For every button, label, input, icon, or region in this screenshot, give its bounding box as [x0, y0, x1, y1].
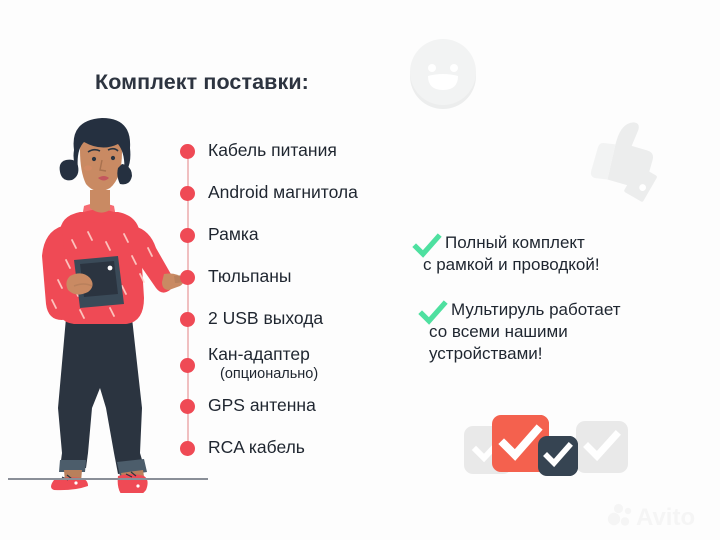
bullet-dot-icon: [180, 228, 195, 243]
bullet-dot-icon: [180, 144, 195, 159]
feature-item-full-kit: Полный комплект с рамкой и проводкой!: [412, 233, 692, 285]
feature-line: со всеми нашими: [429, 321, 568, 343]
bullet-dot-icon: [180, 441, 195, 456]
feature-text: Мультируль работает со всеми нашими устр…: [451, 299, 621, 364]
feature-line: Полный комплект: [445, 233, 585, 252]
feature-text: Полный комплект с рамкой и проводкой!: [445, 232, 600, 276]
list-item-label: 2 USB выхода: [208, 308, 323, 329]
list-item-label: Кан-адаптер: [208, 344, 310, 365]
floor-line: [8, 478, 208, 480]
feature-item-multisteer: Мультируль работает со всеми нашими устр…: [418, 300, 698, 376]
list-item-label: Кабель питания: [208, 140, 337, 161]
list-item-label: GPS антенна: [208, 395, 316, 416]
thumbs-up-icon: [582, 113, 664, 203]
list-item-label: Тюльпаны: [208, 266, 291, 287]
person-illustration: [14, 108, 184, 493]
bullet-dot-icon: [180, 358, 195, 373]
feature-line: с рамкой и проводкой!: [423, 254, 600, 276]
bullet-dot-icon: [180, 270, 195, 285]
list-item-sublabel: (опционально): [220, 366, 318, 382]
svg-text:Avito: Avito: [636, 504, 695, 530]
bullet-dot-icon: [180, 186, 195, 201]
page-title: Комплект поставки:: [95, 70, 309, 95]
checkbox-cluster-icon: [458, 410, 628, 485]
avito-logo-watermark: Avito: [606, 500, 708, 530]
bullet-dot-icon: [180, 312, 195, 327]
list-item-label: RCA кабель: [208, 437, 305, 458]
checkbox-dark: [538, 436, 578, 476]
bullet-dot-icon: [180, 399, 195, 414]
smiley-face-icon: [407, 38, 479, 110]
feature-line: устройствами!: [429, 343, 543, 365]
poster-canvas: Кабель питания Android магнитола Рамка Т…: [0, 0, 720, 540]
list-item-label: Android магнитола: [208, 182, 358, 203]
feature-line: Мультируль работает: [451, 300, 621, 319]
list-item-label: Рамка: [208, 224, 259, 245]
checkbox-grey-right: [576, 421, 628, 473]
